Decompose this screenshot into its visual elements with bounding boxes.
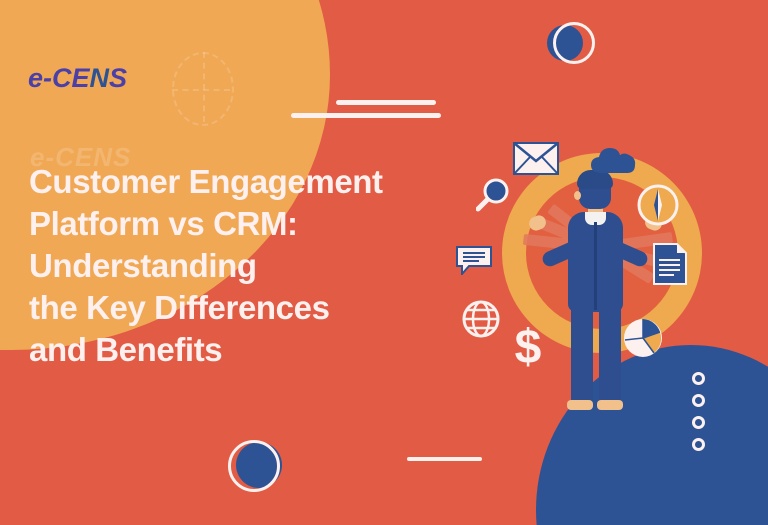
title-line-5: and Benefits [29, 329, 449, 371]
dollar-icon: $ [513, 326, 543, 370]
compass-icon [637, 184, 679, 226]
figure-ear [574, 191, 581, 200]
brand-logo[interactable]: e-CENS [28, 63, 127, 94]
ring-motif-bottom [228, 440, 280, 492]
title-line-3: Understanding [29, 245, 449, 287]
dot-icon [692, 438, 705, 451]
title-line-1: Customer Engagement [29, 161, 449, 203]
logo-accent-letter: N [90, 63, 110, 93]
figure-left-leg [571, 306, 593, 402]
page-title: Customer Engagement Platform vs CRM: Und… [29, 161, 449, 371]
blog-banner: e-CENS e-CENS Customer Engagement Platfo… [0, 0, 768, 525]
title-line-4: the Key Differences [29, 287, 449, 329]
ring-outline [228, 440, 280, 492]
figure-jacket-seam [594, 222, 597, 310]
cloud-icon [591, 146, 639, 174]
logo-prefix: e-CE [28, 63, 90, 93]
logo-suffix: S [109, 63, 127, 93]
envelope-icon [513, 142, 559, 175]
dot-icon [692, 416, 705, 429]
hero-illustration: $ [445, 128, 731, 416]
dashed-circle-decoration [172, 52, 234, 126]
search-icon [476, 178, 510, 212]
document-icon [653, 243, 687, 285]
decorative-line-3 [407, 457, 482, 461]
pie-chart-icon [623, 318, 663, 358]
ring-outline [553, 22, 595, 64]
ring-motif-top [553, 22, 595, 64]
businessman-figure [541, 168, 651, 416]
figure-left-shoe [567, 400, 593, 410]
title-line-2: Platform vs CRM: [29, 203, 449, 245]
figure-right-leg [599, 306, 621, 402]
decorative-line-2 [291, 113, 441, 118]
globe-icon [462, 300, 500, 338]
chat-bubble-icon [455, 245, 493, 275]
decorative-line-1 [336, 100, 436, 105]
figure-right-shoe [597, 400, 623, 410]
